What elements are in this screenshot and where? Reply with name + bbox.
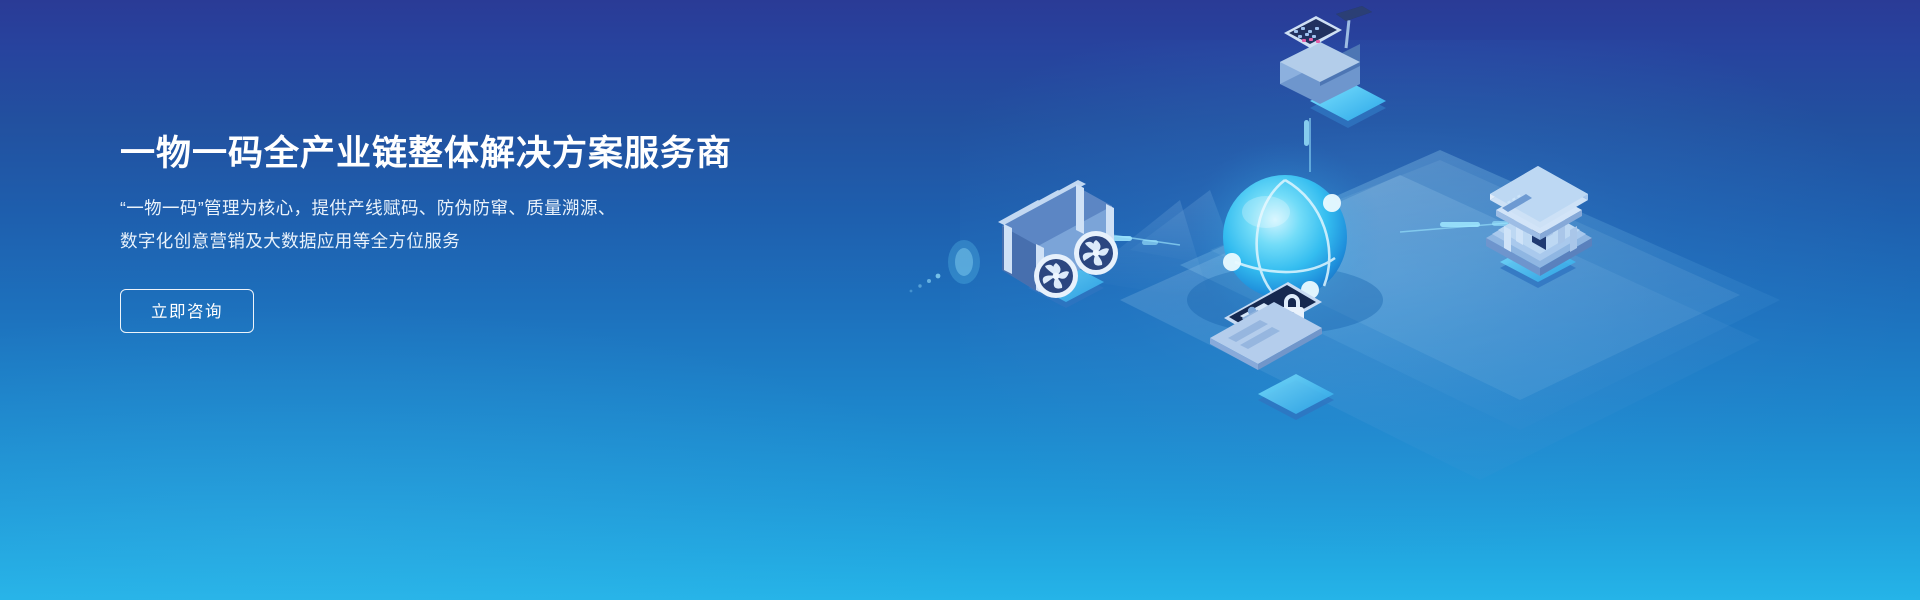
fan-blade xyxy=(1034,254,1078,298)
airflow-swirl xyxy=(910,240,980,292)
banner-subtitle: “一物一码”管理为核心，提供产线赋码、防伪防窜、质量溯源、 数字化创意营销及大数… xyxy=(120,176,880,258)
subtitle-line-2: 数字化创意营销及大数据应用等全方位服务 xyxy=(120,225,880,258)
isometric-network-illustration xyxy=(880,0,1920,600)
consult-now-button[interactable]: 立即咨询 xyxy=(120,289,254,333)
subtitle-line-1: “一物一码”管理为核心，提供产线赋码、防伪防窜、质量溯源、 xyxy=(120,192,880,225)
server-rack-icon xyxy=(910,180,1118,308)
fan-blade xyxy=(1074,231,1118,275)
banner-copy: 一物一码全产业链整体解决方案服务商 “一物一码”管理为核心，提供产线赋码、防伪防… xyxy=(120,132,880,333)
hero-banner: 一物一码全产业链整体解决方案服务商 “一物一码”管理为核心，提供产线赋码、防伪防… xyxy=(0,0,1920,600)
page-title: 一物一码全产业链整体解决方案服务商 xyxy=(120,132,880,176)
cash-register-icon xyxy=(1280,6,1386,128)
background-glow-lower xyxy=(0,300,1000,600)
